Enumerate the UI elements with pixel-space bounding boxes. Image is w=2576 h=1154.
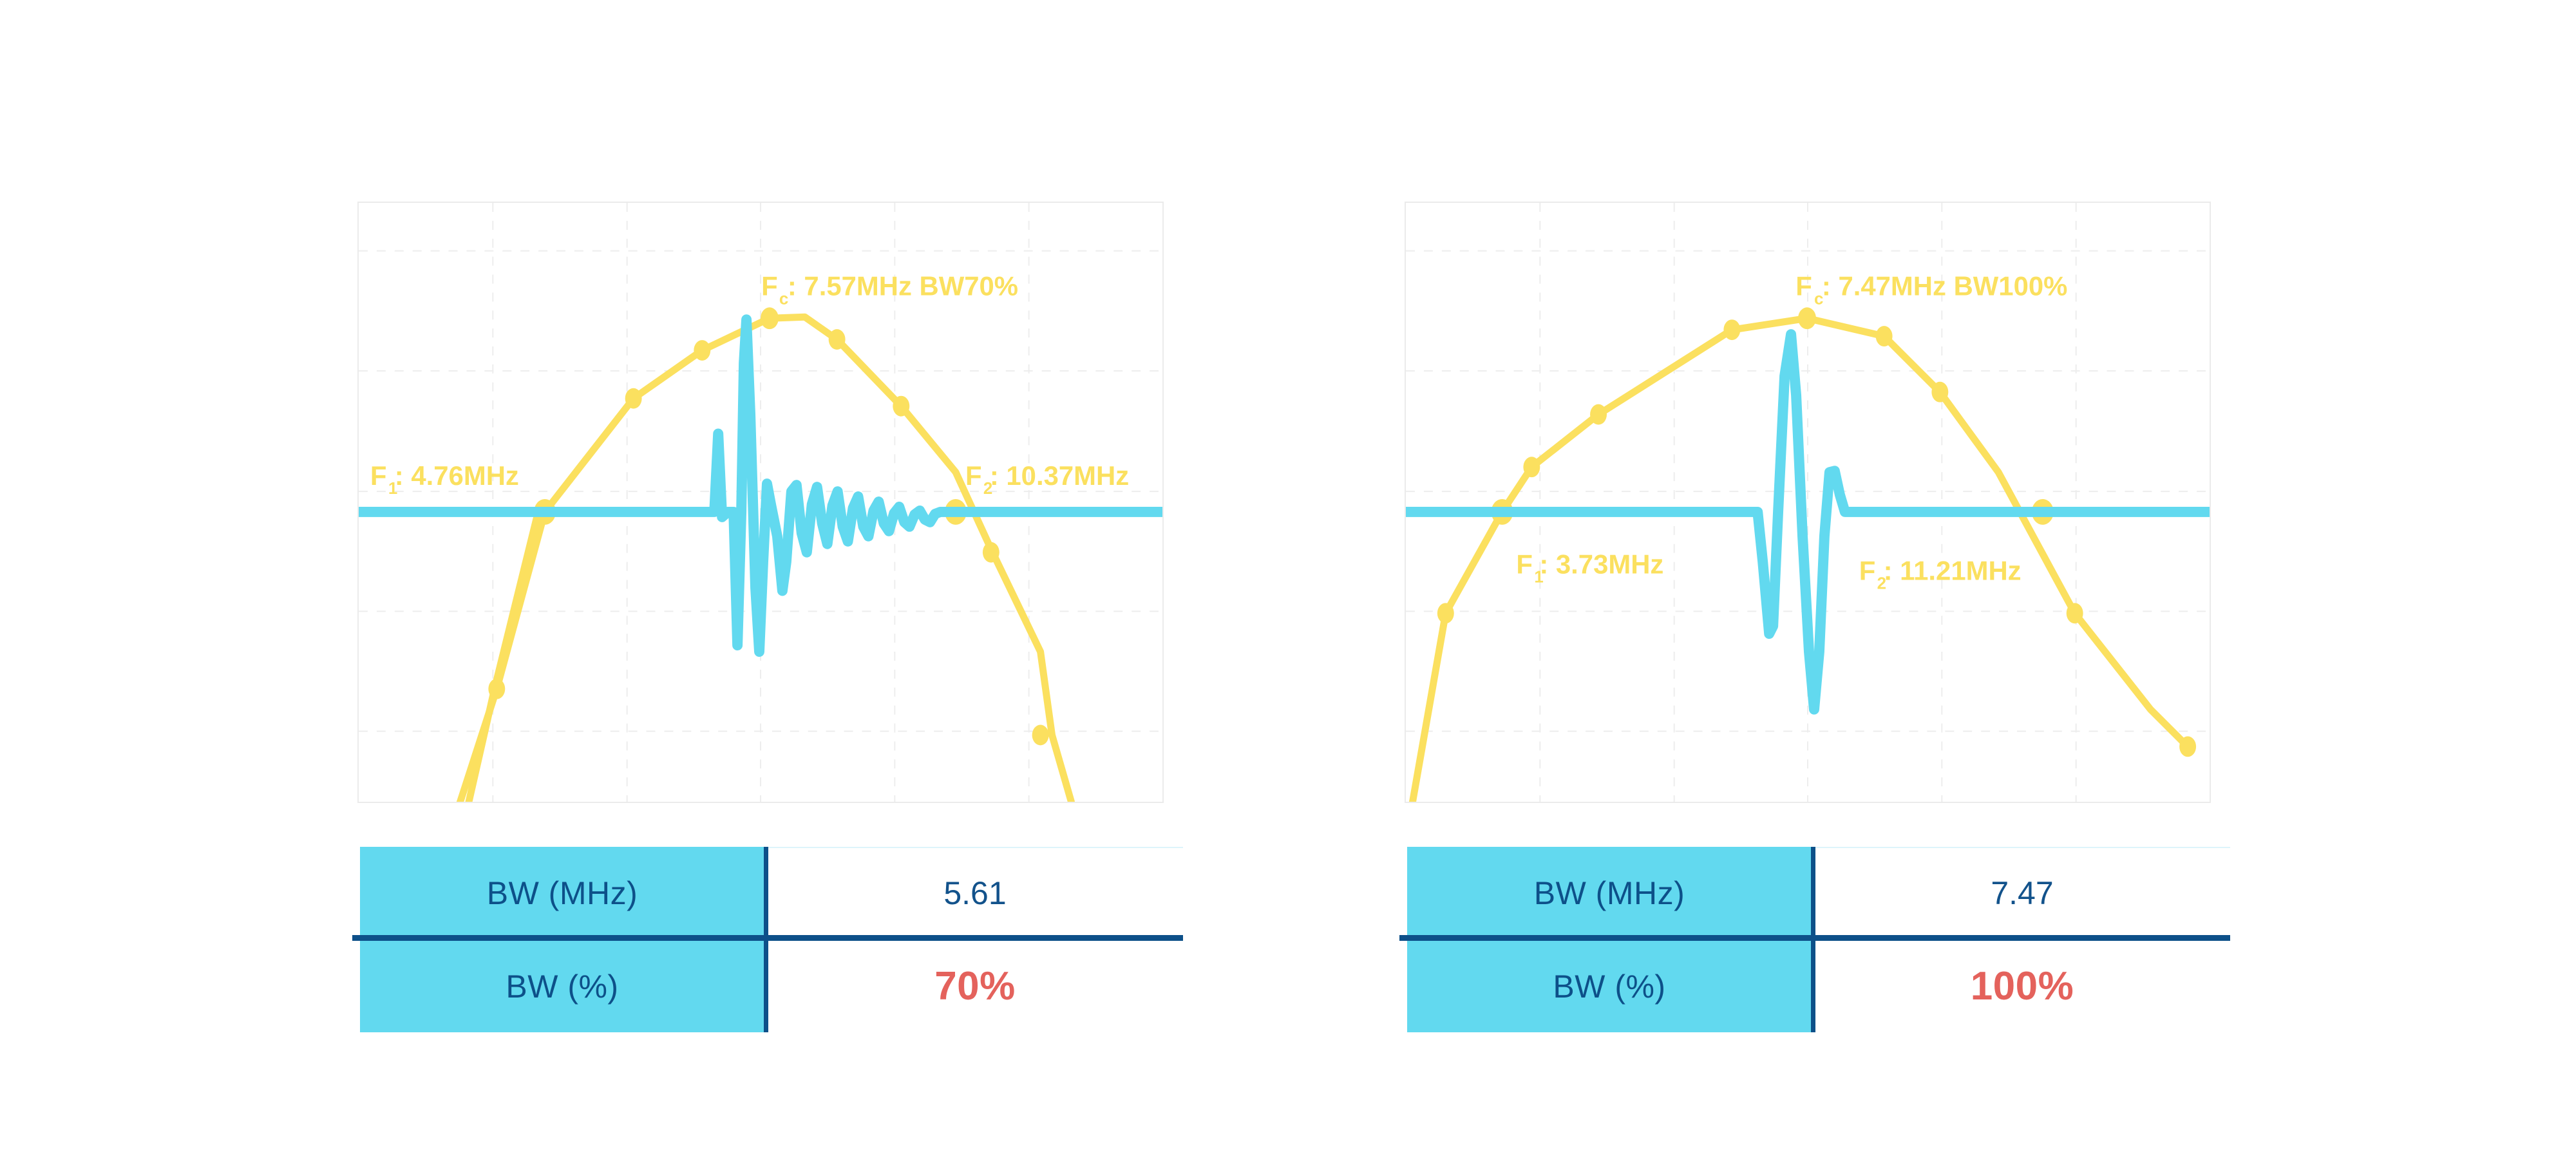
plot-frame-right: F c : 7.47MHz BW100% F 1 : 3.73MHz F 2 :… [1405, 202, 2211, 803]
bw-pct-value-cell: 100% [1814, 940, 2230, 1032]
table-top-hairline [767, 847, 1183, 848]
bw-mhz-label-cell: BW (MHz) [1407, 847, 1812, 939]
figure-canvas: F c : 7.57MHz BW70% F 1 : 4.76MHz F 2 : … [0, 0, 2576, 1154]
bw-table-left: BW (MHz) 5.61 BW (%) 70% [352, 847, 1183, 1034]
annotation-f2-right: F 2 : 11.21MHz [1859, 556, 2022, 593]
annotation-center-left: F c : 7.57MHz BW70% [761, 270, 1018, 308]
annotation-center-text-right: : 7.47MHz BW100% [1822, 270, 2067, 301]
annotation-f1-text-left: : 4.76MHz [395, 460, 519, 491]
bw-pct-value-cell: 70% [767, 940, 1183, 1032]
annotation-f2-left: F 2 : 10.37MHz [965, 460, 1129, 498]
annotation-f1-text-right: : 3.73MHz [1539, 549, 1663, 580]
bw-pct-label: BW (%) [506, 968, 618, 1005]
plot-left: F c : 7.57MHz BW70% F 1 : 4.76MHz F 2 : … [359, 203, 1162, 802]
annotation-f1-left: F 1 : 4.76MHz [370, 460, 519, 498]
annotation-center-prefix-right: F [1795, 270, 1812, 301]
plot-right: F c : 7.47MHz BW100% F 1 : 3.73MHz F 2 :… [1406, 203, 2210, 802]
annotation-center-right: F c : 7.47MHz BW100% [1795, 270, 2067, 308]
plot-frame-left: F c : 7.57MHz BW70% F 1 : 4.76MHz F 2 : … [357, 202, 1164, 803]
annotation-f1-prefix-left: F [370, 460, 387, 491]
annotation-f2-prefix-left: F [965, 460, 982, 491]
bw-pct-label-cell: BW (%) [360, 940, 764, 1032]
annotation-f2-prefix-right: F [1859, 556, 1876, 586]
annotation-center-prefix-left: F [761, 270, 778, 301]
bw-table-right: BW (MHz) 7.47 BW (%) 100% [1399, 847, 2230, 1034]
annotation-f1-prefix-right: F [1516, 549, 1533, 580]
bw-mhz-value-cell: 5.61 [767, 847, 1183, 939]
annotation-f1-right: F 1 : 3.73MHz [1516, 549, 1663, 587]
annotation-f2-text-left: : 10.37MHz [990, 460, 1129, 491]
table-row-divider [1399, 935, 2230, 941]
bw-mhz-value-cell: 7.47 [1814, 847, 2230, 939]
table-top-hairline [1814, 847, 2230, 848]
bw-mhz-label: BW (MHz) [487, 875, 638, 912]
table-row-divider [352, 935, 1183, 941]
annotation-center-text-left: : 7.57MHz BW70% [788, 270, 1018, 301]
annotation-f2-text-right: : 11.21MHz [1884, 556, 2022, 586]
bw-pct-label: BW (%) [1553, 968, 1665, 1005]
bw-pct-label-cell: BW (%) [1407, 940, 1812, 1032]
bw-mhz-label: BW (MHz) [1534, 875, 1685, 912]
bw-pct-value: 100% [1971, 963, 2074, 1009]
bw-mhz-value: 5.61 [943, 875, 1006, 912]
bw-mhz-label-cell: BW (MHz) [360, 847, 764, 939]
bw-mhz-value: 7.47 [1991, 875, 2053, 912]
measurement-panel-right: F c : 7.47MHz BW100% F 1 : 3.73MHz F 2 :… [1399, 193, 2214, 1037]
bw-pct-value: 70% [934, 963, 1016, 1009]
grid-lines-left [359, 203, 1162, 802]
measurement-panel-left: F c : 7.57MHz BW70% F 1 : 4.76MHz F 2 : … [352, 193, 1167, 1037]
